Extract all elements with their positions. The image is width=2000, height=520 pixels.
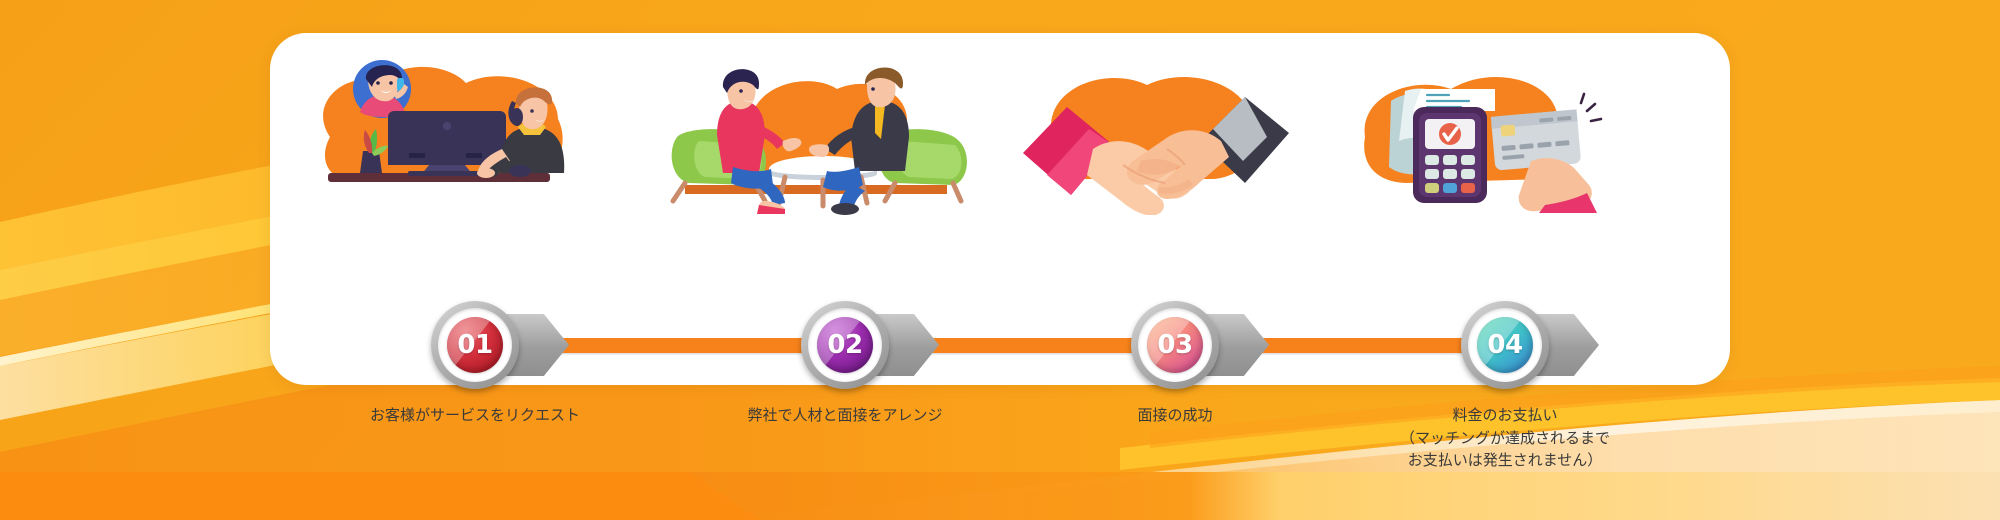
step-04-number: 04 bbox=[1487, 332, 1522, 358]
step-03-ring-inner: 03 bbox=[1138, 308, 1212, 382]
step-01-label: お客様がサービスをリクエスト bbox=[370, 404, 580, 427]
step-03-number: 03 bbox=[1157, 332, 1192, 358]
card-payment-terminal-illustration bbox=[1335, 45, 1635, 215]
step-02-label: 弊社で人材と面接をアレンジ bbox=[747, 404, 942, 427]
interview-meeting-illustration bbox=[655, 45, 975, 215]
illustration-row bbox=[270, 45, 1730, 215]
step-04-disc: 04 bbox=[1477, 317, 1533, 373]
step-04-ring-inner: 04 bbox=[1468, 308, 1542, 382]
step-02-number: 02 bbox=[827, 332, 862, 358]
step-03-ring: 03 bbox=[1131, 301, 1219, 389]
step-01-ring-inner: 01 bbox=[438, 308, 512, 382]
step-04-label: 料金のお支払い （マッチングが達成されるまで お支払いは発生されません） bbox=[1400, 404, 1610, 472]
step-03-label: 面接の成功 bbox=[1137, 404, 1212, 427]
step-02-ring: 02 bbox=[801, 301, 889, 389]
step-01-disc: 01 bbox=[447, 317, 503, 373]
page-stage: 01 お客様がサービスをリクエスト 02 弊社で人材と面接をアレンジ bbox=[0, 0, 2000, 520]
handshake-illustration bbox=[1005, 45, 1305, 215]
step-01-ring: 01 bbox=[431, 301, 519, 389]
process-stepper: 01 お客様がサービスをリクエスト 02 弊社で人材と面接をアレンジ bbox=[270, 276, 1730, 406]
step-04-ring: 04 bbox=[1461, 301, 1549, 389]
step-02-disc: 02 bbox=[817, 317, 873, 373]
call-center-agent-illustration bbox=[290, 45, 620, 215]
step-03-disc: 03 bbox=[1147, 317, 1203, 373]
step-02-ring-inner: 02 bbox=[808, 308, 882, 382]
step-01-number: 01 bbox=[457, 332, 492, 358]
